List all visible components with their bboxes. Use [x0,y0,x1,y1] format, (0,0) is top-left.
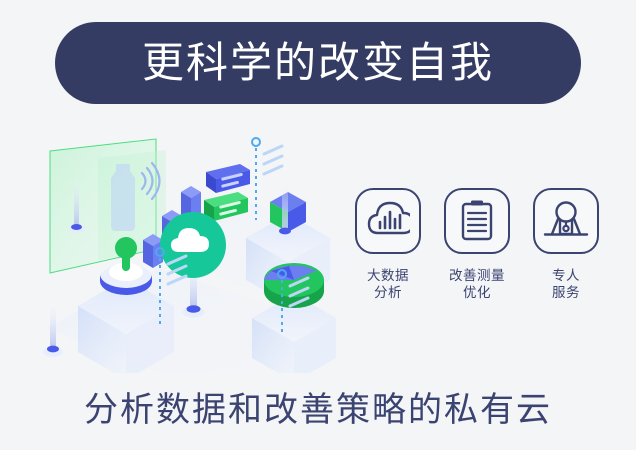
feature-label: 大数据 分析 [367,267,409,301]
poster-root: 更科学的改变自我 [0,0,636,450]
tagline: 分析数据和改善策略的私有云 [0,382,636,431]
feature-badge [533,188,599,254]
feature-item-support[interactable]: 专人 服务 [530,188,602,338]
feature-label-line1: 大数据 [367,267,409,284]
feature-label-line2: 服务 [552,284,580,301]
feature-item-measurement[interactable]: 改善测量 优化 [441,188,513,338]
feature-badge [444,188,510,254]
feature-label-line2: 分析 [367,284,409,301]
feature-badge [355,188,421,254]
feature-label: 专人 服务 [552,267,580,301]
header-banner: 更科学的改变自我 [55,22,581,104]
support-agent-icon [543,201,589,241]
cloud-bar-chart-icon [366,201,410,241]
feature-label-line1: 专人 [552,267,580,284]
clipboard-icon [457,199,497,243]
bottle-silhouette [111,164,135,231]
feature-label-line2: 优化 [449,284,505,301]
feature-item-big-data[interactable]: 大数据 分析 [352,188,424,338]
feature-list: 大数据 分析 改善测量 优化 [352,188,602,338]
blue-tag-card [206,164,250,193]
feature-label: 改善测量 优化 [449,267,505,301]
hero-illustration [38,128,368,373]
feature-label-line1: 改善测量 [449,267,505,284]
page-title: 更科学的改变自我 [142,42,494,84]
